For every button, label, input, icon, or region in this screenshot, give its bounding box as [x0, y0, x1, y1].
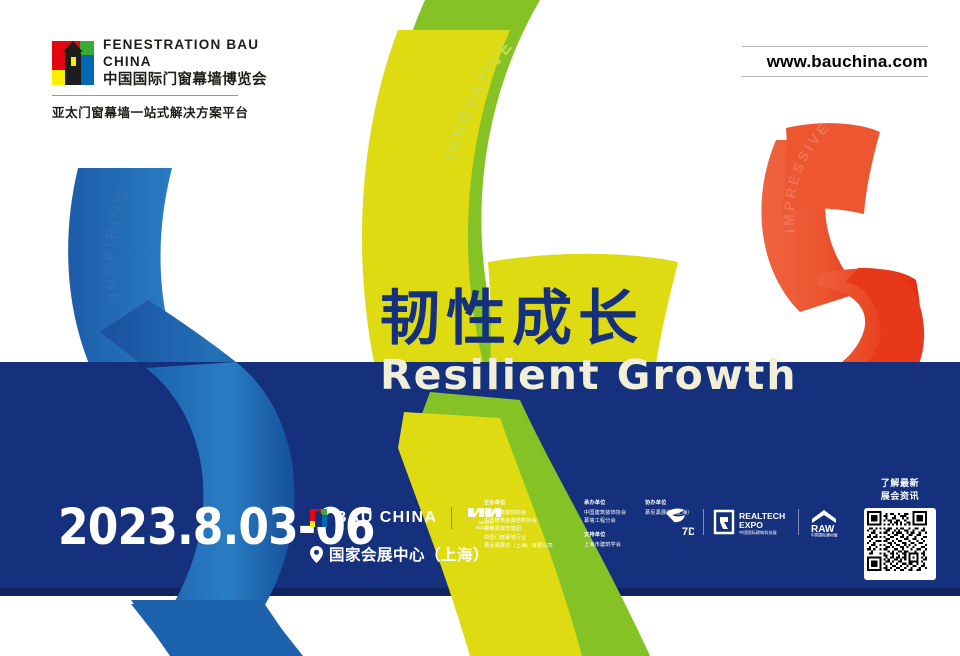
- raw-logo: RAW 中国国际建材展: [808, 507, 860, 537]
- navy-band-shadow: [0, 588, 960, 596]
- supporters-heading: 承办单位: [584, 499, 626, 507]
- organizer-item: 中国建筑装饰协会: [484, 509, 553, 517]
- sponsor-separator: [703, 509, 704, 535]
- url-rule-bottom: [742, 76, 928, 77]
- realtech-expo-logo: REALTECH EXPO 中国国际建筑科技展: [713, 507, 789, 537]
- svg-text:中国国际建筑科技展: 中国国际建筑科技展: [739, 529, 778, 536]
- logo-divider-rule: [52, 95, 238, 96]
- organizers-heading: 主办单位: [484, 499, 553, 507]
- logo-line-cn: 中国国际门窗幕墙博览会: [103, 73, 267, 88]
- logo-tagline-wrap: 亚太门窗幕墙一站式解决方案平台: [52, 88, 267, 121]
- bau-brand-row: BAU CHINA Messe München: [310, 505, 504, 531]
- poster-canvas: INSPIRING INNOVATIVE IMPRESSIVE: [0, 0, 960, 656]
- qr-code-block[interactable]: 了解最新 展会资讯: [864, 478, 936, 580]
- organizer-item: 中国建筑金属结构协会: [484, 517, 553, 525]
- brand-logo-header: FENESTRATION BAU CHINA 中国国际门窗幕墙博览会 亚太门窗幕…: [52, 38, 267, 121]
- support-units-heading: 支持单位: [584, 531, 626, 539]
- supporter-item: 中国建筑装饰协会: [584, 509, 626, 517]
- organizer-item: 中国门窗幕墙行业: [484, 534, 553, 542]
- sponsor-logo-zhuhai: 7D: [660, 505, 694, 539]
- brand-divider: [451, 507, 452, 529]
- headline-english: Resilient Growth: [380, 354, 798, 397]
- sponsor-logo-raw: RAW 中国国际建材展: [808, 507, 860, 537]
- logo-line-en-1: FENESTRATION BAU: [103, 38, 267, 52]
- svg-text:EXPO: EXPO: [739, 520, 763, 530]
- venue-row: 国家会展中心（上海）: [310, 543, 504, 565]
- support-unit-item: 上海市建筑学会: [584, 541, 626, 549]
- wechat-qr-code[interactable]: [864, 508, 936, 580]
- qr-caption-line-1: 了解最新: [881, 478, 919, 491]
- organizers-column: 主办单位 中国建筑装饰协会 中国建筑金属结构协会 慕尼黑博览集团 中国门窗幕墙行…: [484, 499, 553, 551]
- support-units-group: 支持单位 上海市建筑学会: [584, 531, 626, 549]
- supporter-item: 幕墙工程分会: [584, 517, 626, 525]
- logo-wordmark: FENESTRATION BAU CHINA 中国国际门窗幕墙博览会: [103, 38, 267, 88]
- logo-row: FENESTRATION BAU CHINA 中国国际门窗幕墙博览会: [52, 38, 267, 88]
- zhuhai-7d-logo: 7D: [660, 505, 694, 539]
- brand-venue-block: BAU CHINA Messe München 国家会展中心（上海）: [310, 505, 504, 565]
- headline-block: 韧性成长 Resilient Growth: [380, 288, 798, 397]
- svg-text:中国国际建材展: 中国国际建材展: [811, 533, 838, 538]
- qr-caption: 了解最新 展会资讯: [881, 478, 919, 504]
- supporters-group: 承办单位 中国建筑装饰协会 幕墙工程分会: [584, 499, 626, 525]
- supporters-column: 承办单位 中国建筑装饰协会 幕墙工程分会 支持单位 上海市建筑学会: [584, 499, 626, 549]
- website-url-text[interactable]: www.bauchina.com: [742, 47, 928, 76]
- bau-china-name: BAU CHINA: [335, 509, 437, 527]
- fenestration-bau-china-logo-mark: [52, 41, 94, 85]
- location-pin-icon: [310, 546, 323, 563]
- qr-caption-line-2: 展会资讯: [881, 491, 919, 504]
- logo-line-en-2: CHINA: [103, 55, 267, 69]
- sponsor-separator: [798, 509, 799, 535]
- website-url-block[interactable]: www.bauchina.com: [742, 46, 928, 77]
- organizer-item: 慕尼黑博览集团: [484, 525, 553, 533]
- sponsor-logo-strip: 7D REALTECH EXPO 中国国际建筑科技展 RAW 中国国际建材展: [660, 505, 860, 539]
- organizers-group: 主办单位 中国建筑装饰协会 中国建筑金属结构协会 慕尼黑博览集团 中国门窗幕墙行…: [484, 499, 553, 551]
- headline-chinese: 韧性成长: [380, 288, 798, 351]
- sponsor-label-7d: 7D: [682, 526, 694, 538]
- sponsor-logo-realtech: REALTECH EXPO 中国国际建筑科技展: [713, 507, 789, 537]
- bau-china-mark: [310, 509, 327, 527]
- organizer-item: 慕尼黑展览（上海）有限公司: [484, 542, 553, 550]
- venue-name: 国家会展中心（上海）: [329, 543, 489, 565]
- qr-code-graphic: [867, 511, 927, 571]
- logo-tagline: 亚太门窗幕墙一站式解决方案平台: [52, 102, 249, 121]
